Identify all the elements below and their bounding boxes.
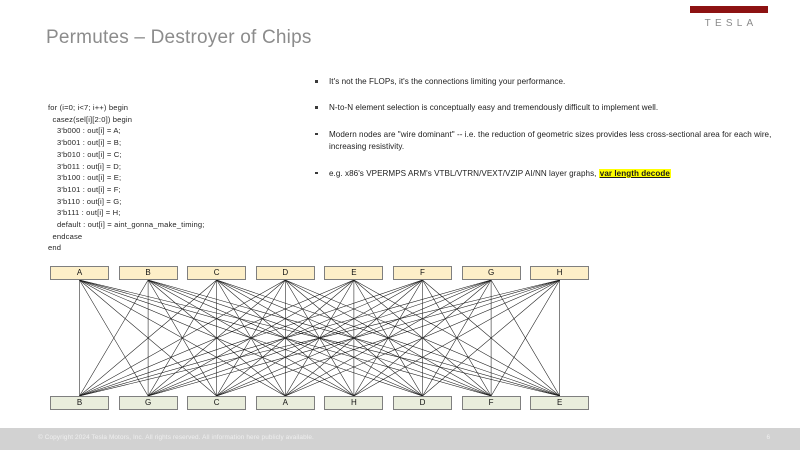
- bullet-marker-icon: [315, 172, 318, 175]
- crossbar-output-node: B: [50, 396, 109, 410]
- bullet-item: Modern nodes are "wire dominant" -- i.e.…: [313, 129, 793, 154]
- bullet-list: It's not the FLOPs, it's the connections…: [313, 76, 793, 194]
- crossbar-input-node: H: [530, 266, 589, 280]
- crossbar-wires: [50, 266, 590, 411]
- bullet-marker-icon: [315, 80, 318, 83]
- verilog-code-block: for (i=0; i<7; i++) begin casez(sel[i][2…: [48, 102, 300, 254]
- crossbar-diagram: ABCDEFGHBGCAHDFE: [50, 266, 590, 411]
- footer-page-number: 6: [766, 434, 770, 441]
- bullet-marker-icon: [315, 106, 318, 109]
- highlighted-text: var length decode: [599, 169, 671, 178]
- crossbar-input-node: G: [462, 266, 521, 280]
- bullet-text: e.g. x86's VPERMPS ARM's VTBL/VTRN/VEXT/…: [329, 169, 599, 178]
- crossbar-output-node: H: [324, 396, 383, 410]
- crossbar-output-node: C: [187, 396, 246, 410]
- crossbar-input-node: A: [50, 266, 109, 280]
- bullet-item: It's not the FLOPs, it's the connections…: [313, 76, 793, 88]
- crossbar-output-node: A: [256, 396, 315, 410]
- tesla-wordmark: TESLA: [686, 18, 772, 29]
- slide-footer: © Copyright 2024 Tesla Motors, Inc. All …: [0, 428, 800, 450]
- crossbar-output-node: F: [462, 396, 521, 410]
- bullet-marker-icon: [315, 133, 318, 136]
- crossbar-input-node: B: [119, 266, 178, 280]
- tesla-logo-bar: [690, 6, 768, 13]
- bullet-text: Modern nodes are "wire dominant" -- i.e.…: [329, 130, 771, 151]
- footer-copyright: © Copyright 2024 Tesla Motors, Inc. All …: [38, 434, 314, 441]
- crossbar-input-node: E: [324, 266, 383, 280]
- bullet-item: N-to-N element selection is conceptually…: [313, 102, 793, 114]
- crossbar-output-node: E: [530, 396, 589, 410]
- bullet-text: N-to-N element selection is conceptually…: [329, 103, 658, 112]
- crossbar-input-node: F: [393, 266, 452, 280]
- slide-canvas: TESLA Permutes – Destroyer of Chips for …: [0, 0, 800, 450]
- crossbar-input-node: D: [256, 266, 315, 280]
- crossbar-input-node: C: [187, 266, 246, 280]
- tesla-logo: TESLA: [686, 6, 772, 29]
- bullet-text: It's not the FLOPs, it's the connections…: [329, 77, 565, 86]
- bullet-item: e.g. x86's VPERMPS ARM's VTBL/VTRN/VEXT/…: [313, 168, 793, 180]
- crossbar-output-node: D: [393, 396, 452, 410]
- slide-title: Permutes – Destroyer of Chips: [46, 27, 312, 49]
- crossbar-output-node: G: [119, 396, 178, 410]
